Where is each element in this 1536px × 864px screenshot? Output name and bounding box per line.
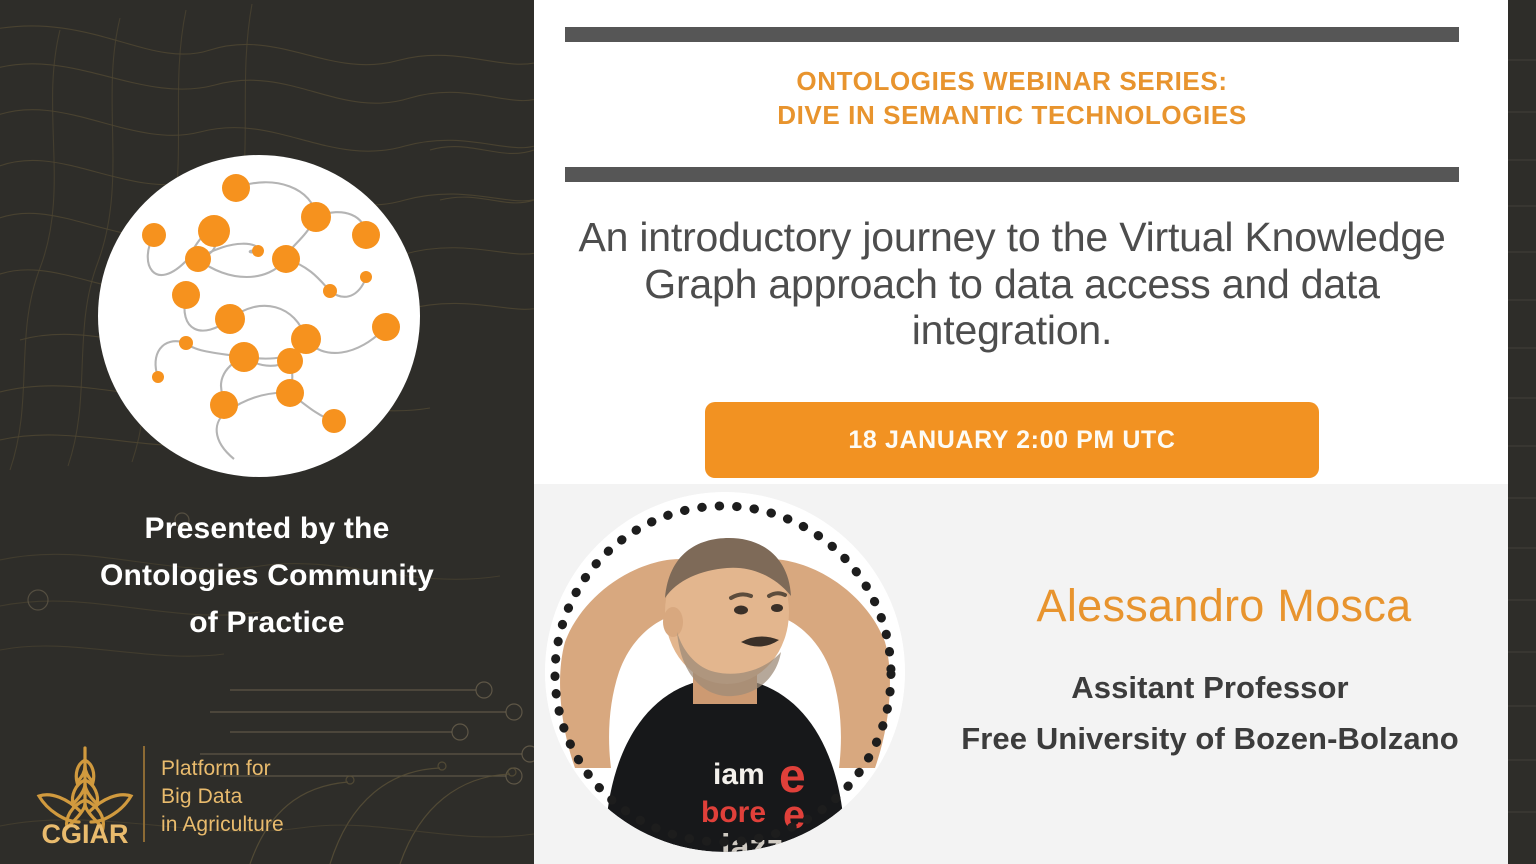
series-title-line-1: ONTOLOGIES WEBINAR SERIES: bbox=[565, 64, 1459, 98]
divider-bottom bbox=[565, 167, 1459, 182]
datetime-button[interactable]: 18 JANUARY 2:00 PM UTC bbox=[705, 402, 1319, 478]
presented-by-line-1: Presented by the bbox=[20, 505, 514, 552]
presented-by-block: Presented by the Ontologies Community of… bbox=[20, 505, 514, 646]
network-graph-circle bbox=[98, 155, 420, 477]
logo-tagline-line-3: in Agriculture bbox=[161, 811, 284, 839]
series-title: ONTOLOGIES WEBINAR SERIES: DIVE IN SEMAN… bbox=[565, 64, 1459, 133]
series-title-line-2: DIVE IN SEMANTIC TECHNOLOGIES bbox=[565, 98, 1459, 132]
cgiar-wheat-icon: CGIAR bbox=[35, 742, 135, 846]
logo-tagline: Platform for Big Data in Agriculture bbox=[161, 755, 284, 839]
speaker-role: Assitant Professor Free University of Bo… bbox=[914, 662, 1506, 765]
cgiar-wordmark: CGIAR bbox=[42, 819, 129, 846]
speaker-name: Alessandro Mosca bbox=[944, 580, 1504, 632]
presented-by-line-2: Ontologies Community bbox=[20, 552, 514, 599]
cgiar-logo-lockup: CGIAR Platform for Big Data in Agricultu… bbox=[35, 742, 335, 846]
edge-strip-texture bbox=[1508, 0, 1536, 864]
dotted-ring-decoration bbox=[547, 498, 899, 850]
divider-top bbox=[565, 27, 1459, 42]
speaker-band: iam e bore e jazz Alessandro Mosca Assit… bbox=[534, 484, 1508, 864]
speaker-photo-wrap: iam e bore e jazz bbox=[545, 492, 905, 864]
logo-tagline-line-2: Big Data bbox=[161, 783, 284, 811]
left-panel: Presented by the Ontologies Community of… bbox=[0, 0, 534, 864]
logo-tagline-line-1: Platform for bbox=[161, 755, 284, 783]
talk-title: An introductory journey to the Virtual K… bbox=[575, 214, 1449, 354]
speaker-role-line-1: Assitant Professor bbox=[914, 662, 1506, 713]
logo-divider bbox=[143, 746, 145, 842]
webinar-poster: Presented by the Ontologies Community of… bbox=[0, 0, 1536, 864]
presented-by-line-3: of Practice bbox=[20, 599, 514, 646]
right-edge-strip bbox=[1508, 0, 1536, 864]
speaker-role-line-2: Free University of Bozen-Bolzano bbox=[914, 713, 1506, 764]
